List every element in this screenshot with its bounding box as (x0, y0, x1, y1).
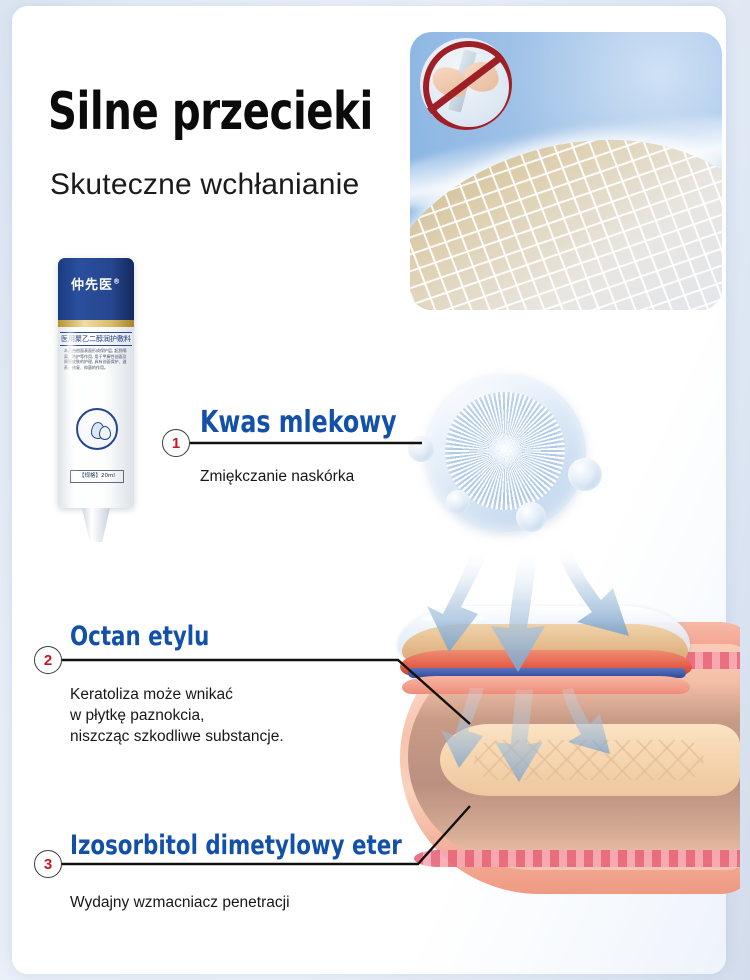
callout-title-3: Izosorbitol dimetylowy eter (70, 830, 402, 861)
infographic-page: Silne przecieki Skuteczne wchłanianie 仲先… (0, 0, 750, 980)
callout-description-2: Keratoliza może wnikać w płytkę paznokci… (70, 684, 284, 747)
callout-marker-2[interactable]: 2 (34, 646, 62, 674)
callout-title-2: Octan etylu (70, 621, 209, 652)
callout-title-1: Kwas mlekowy (200, 405, 397, 440)
callout-marker-3[interactable]: 3 (34, 850, 62, 878)
callout-description-1: Zmiękczanie naskórka (200, 466, 354, 487)
callout-marker-1[interactable]: 1 (162, 429, 190, 457)
callout-description-3: Wydajny wzmacniacz penetracji (70, 892, 290, 913)
